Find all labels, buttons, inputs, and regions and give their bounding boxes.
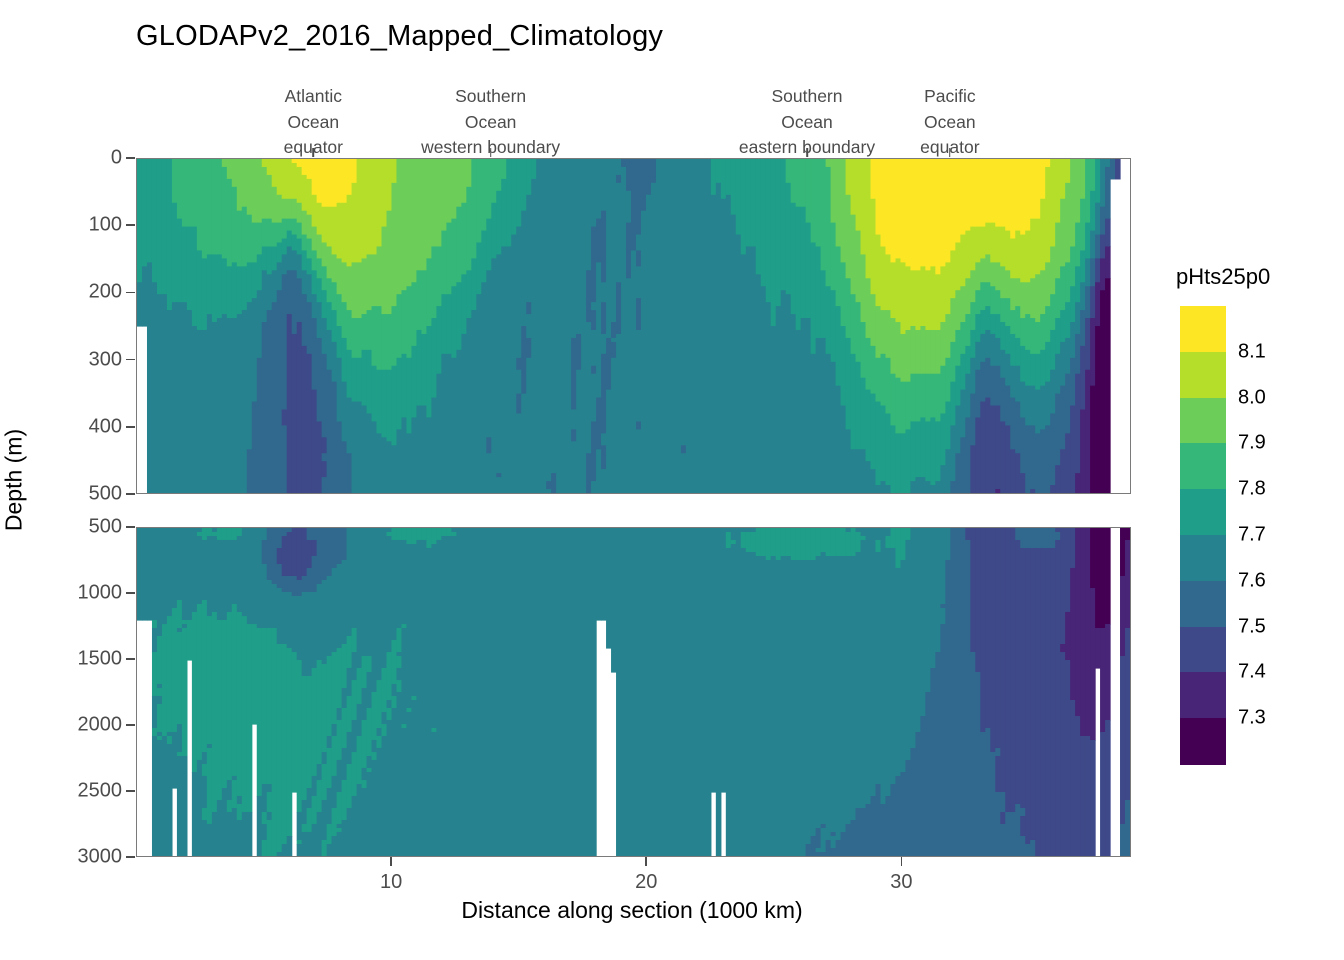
x-axis-tick (390, 857, 392, 866)
annotation-tick (806, 148, 808, 157)
legend-swatch (1180, 352, 1226, 398)
legend-swatch (1180, 443, 1226, 489)
y-axis-tick (126, 359, 135, 361)
legend-swatch (1180, 581, 1226, 627)
annotation-line: Atlantic (284, 84, 343, 110)
annotation-line: Southern (739, 84, 875, 110)
annotation-line: Ocean (421, 110, 560, 136)
x-axis-tick (645, 857, 647, 866)
x-axis-tick-label: 10 (380, 871, 402, 894)
x-axis-tick-label: 20 (635, 871, 657, 894)
y-axis-tick (126, 426, 135, 428)
lower-panel-contours (137, 528, 1130, 856)
y-axis-tick (126, 157, 135, 159)
y-axis-tick-label: 2000 (40, 714, 122, 737)
legend-label: 7.6 (1238, 569, 1266, 592)
y-axis-tick (126, 224, 135, 226)
annotation-tick (949, 148, 951, 157)
upper-panel-contours (137, 159, 1130, 493)
y-axis-tick (126, 856, 135, 858)
legend-title: pHts25p0 (1176, 264, 1270, 290)
legend-colorbar (1180, 306, 1226, 764)
y-axis-title: Depth (m) (1, 429, 28, 531)
annotation-tick (313, 148, 315, 157)
y-axis-tick-label: 400 (40, 415, 122, 438)
legend-swatch (1180, 398, 1226, 444)
legend-swatch (1180, 718, 1226, 764)
legend-swatch (1180, 489, 1226, 535)
y-axis-tick-label: 3000 (40, 846, 122, 869)
legend-label: 7.5 (1238, 615, 1266, 638)
y-axis-tick-label: 500 (40, 516, 122, 539)
lower-depth-panel (136, 527, 1131, 857)
y-axis-tick-label: 500 (40, 483, 122, 506)
legend-label: 8.1 (1238, 340, 1266, 363)
y-axis-tick (126, 724, 135, 726)
annotation-line: Pacific (920, 84, 979, 110)
legend-label: 8.0 (1238, 386, 1266, 409)
y-axis-tick-label: 100 (40, 214, 122, 237)
y-axis-tick-label: 1000 (40, 582, 122, 605)
annotation-line: Ocean (284, 110, 343, 136)
y-axis-tick (126, 292, 135, 294)
y-axis-tick (126, 526, 135, 528)
legend-label: 7.3 (1238, 707, 1266, 730)
y-axis-tick (126, 658, 135, 660)
legend-label: 7.7 (1238, 524, 1266, 547)
y-axis-tick (126, 493, 135, 495)
x-axis-tick (901, 857, 903, 866)
legend-swatch (1180, 535, 1226, 581)
legend-label: 7.4 (1238, 661, 1266, 684)
chart-title: GLODAPv2_2016_Mapped_Climatology (136, 20, 663, 53)
legend-swatch (1180, 306, 1226, 352)
y-axis-tick-label: 200 (40, 281, 122, 304)
annotation-line: Southern (421, 84, 560, 110)
upper-depth-panel (136, 158, 1131, 494)
x-axis-title: Distance along section (1000 km) (0, 897, 1344, 924)
x-axis-tick-label: 30 (890, 871, 912, 894)
annotation-line: Ocean (739, 110, 875, 136)
y-axis-tick (126, 790, 135, 792)
y-axis-tick-label: 300 (40, 348, 122, 371)
y-axis-tick-label: 1500 (40, 648, 122, 671)
legend-swatch (1180, 627, 1226, 673)
legend-swatch (1180, 672, 1226, 718)
y-axis-tick-label: 0 (40, 147, 122, 170)
y-axis-tick (126, 592, 135, 594)
figure-root: GLODAPv2_2016_Mapped_Climatology Atlanti… (0, 0, 1344, 960)
annotation-line: Ocean (920, 110, 979, 136)
y-axis-tick-label: 2500 (40, 780, 122, 803)
legend-label: 7.9 (1238, 432, 1266, 455)
annotation-tick (490, 148, 492, 157)
legend-label: 7.8 (1238, 478, 1266, 501)
